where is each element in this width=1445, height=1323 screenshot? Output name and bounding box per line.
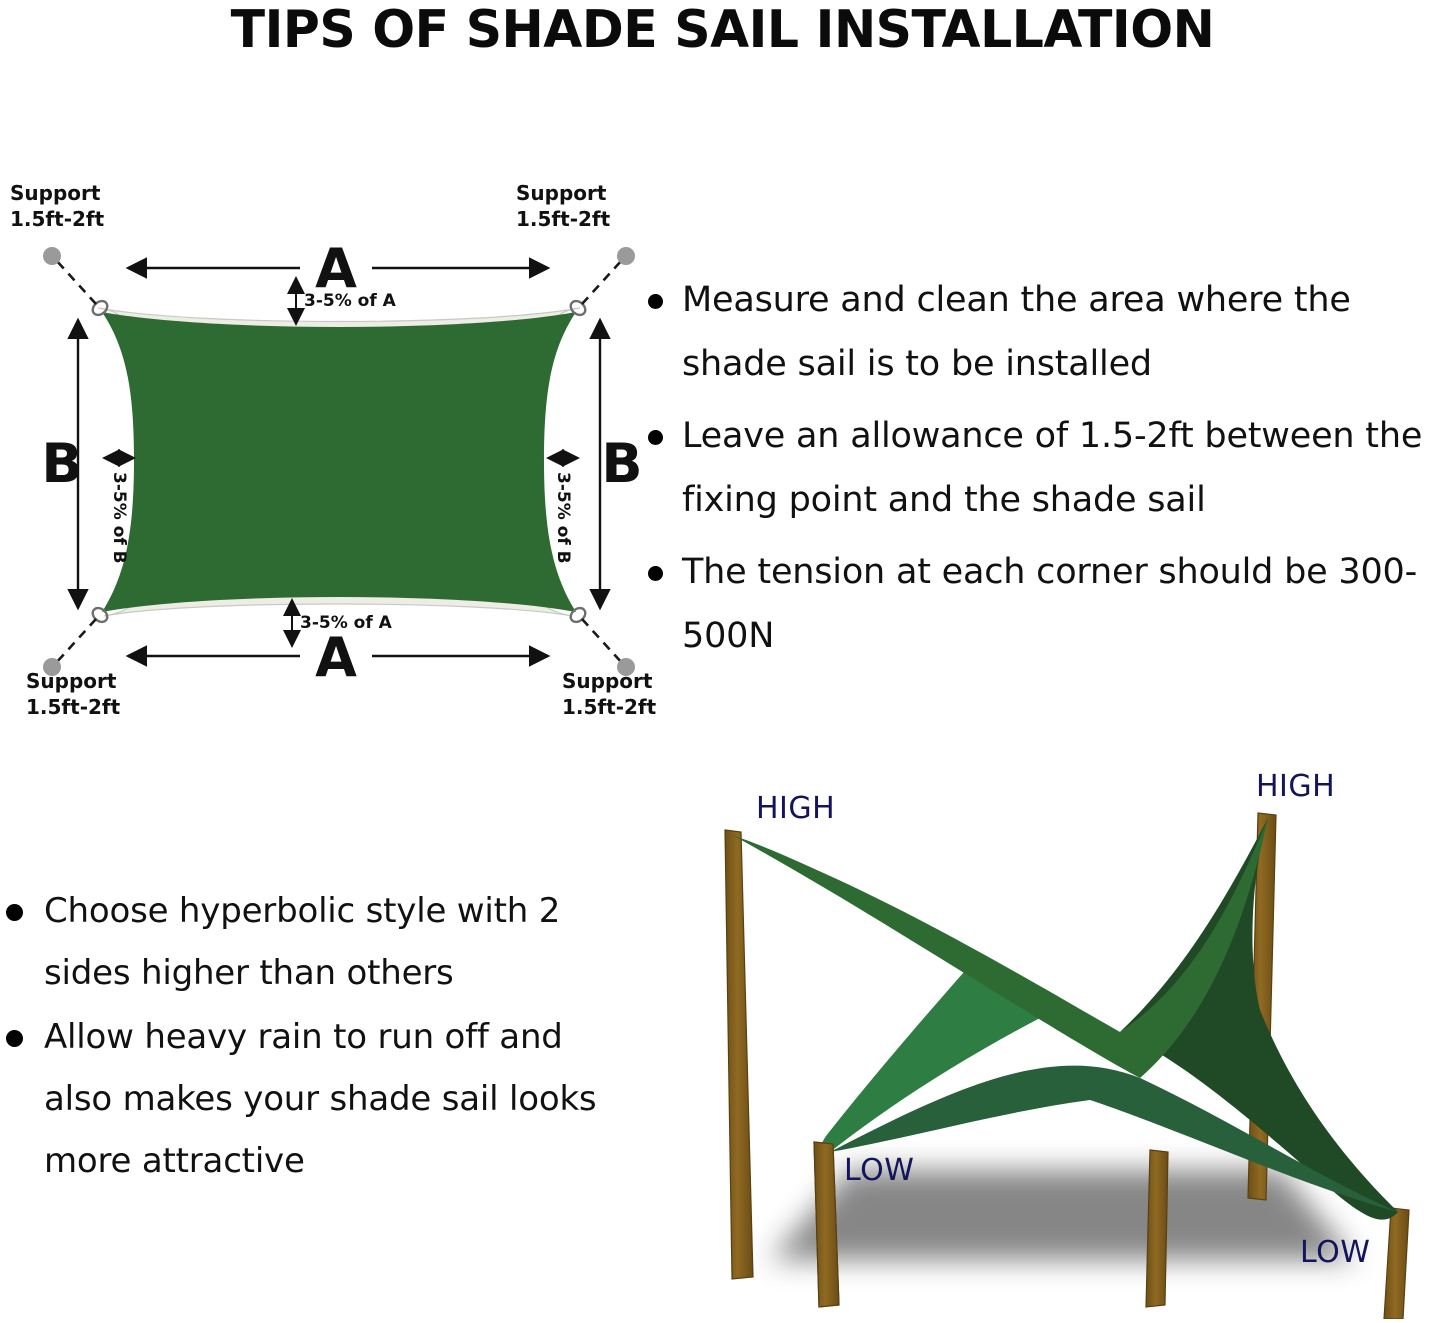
support-distance-bottom-left: 1.5ft-2ft — [26, 695, 121, 719]
rect-sail-svg: Support 1.5ft-2ft Support 1.5ft-2ft Supp… — [0, 160, 680, 730]
tip-list-primary: Measure and clean the area where the sha… — [640, 268, 1445, 668]
support-distance-top-right: 1.5ft-2ft — [516, 207, 611, 231]
list-item: Leave an allowance of 1.5-2ft between th… — [640, 404, 1445, 532]
dimension-label-left-B: B — [41, 432, 82, 495]
support-distance-top-left: 1.5ft-2ft — [10, 207, 105, 231]
installation-tips-list-primary: Measure and clean the area where the sha… — [640, 268, 1445, 668]
list-item: Allow heavy rain to run off and also mak… — [0, 1006, 620, 1192]
slack-label-left: 3-5% of B — [109, 472, 129, 564]
pole-low-left-front — [814, 1142, 839, 1307]
dimension-label-bottom-A: A — [315, 626, 357, 689]
page-title: TIPS OF SHADE SAIL INSTALLATION — [22, 2, 1424, 58]
support-label-top-right: Support — [516, 181, 607, 205]
corner-label-low-right: LOW — [1300, 1235, 1370, 1270]
rope-bottom-left — [56, 619, 96, 663]
dimension-label-right-B: B — [601, 432, 642, 495]
hyperbolic-sail-diagram: HIGH HIGH LOW LOW — [620, 760, 1445, 1319]
slack-label-right: 3-5% of B — [553, 472, 573, 564]
support-label-bottom-right: Support — [562, 669, 653, 693]
slack-label-top: 3-5% of A — [304, 291, 397, 311]
support-dot-top-right — [617, 247, 635, 265]
installation-tips-list-secondary: Choose hyperbolic style with 2 sides hig… — [0, 880, 620, 1220]
support-label-top-left: Support — [10, 181, 101, 205]
list-item: Choose hyperbolic style with 2 sides hig… — [0, 880, 620, 1004]
rope-bottom-right — [582, 619, 622, 663]
sail-body — [102, 312, 576, 612]
corner-label-high-left: HIGH — [756, 791, 835, 826]
rectangular-sail-diagram: Support 1.5ft-2ft Support 1.5ft-2ft Supp… — [0, 160, 680, 730]
hyperbolic-sail-svg: HIGH HIGH LOW LOW — [620, 760, 1445, 1319]
corner-label-low-left: LOW — [844, 1153, 914, 1188]
pole-mid-right-front — [1146, 1150, 1168, 1307]
pole-high-left — [725, 830, 753, 1279]
support-label-bottom-left: Support — [26, 669, 117, 693]
list-item: Measure and clean the area where the sha… — [640, 268, 1445, 396]
pole-low-right — [1384, 1208, 1409, 1319]
list-item: The tension at each corner should be 300… — [640, 540, 1445, 668]
support-dot-top-left — [43, 247, 61, 265]
corner-label-high-right: HIGH — [1256, 769, 1335, 804]
support-distance-bottom-right: 1.5ft-2ft — [562, 695, 657, 719]
slack-label-bottom: 3-5% of A — [300, 613, 393, 633]
rope-top-right — [582, 260, 622, 304]
rope-top-left — [56, 260, 96, 304]
tip-list-secondary: Choose hyperbolic style with 2 sides hig… — [0, 880, 620, 1192]
